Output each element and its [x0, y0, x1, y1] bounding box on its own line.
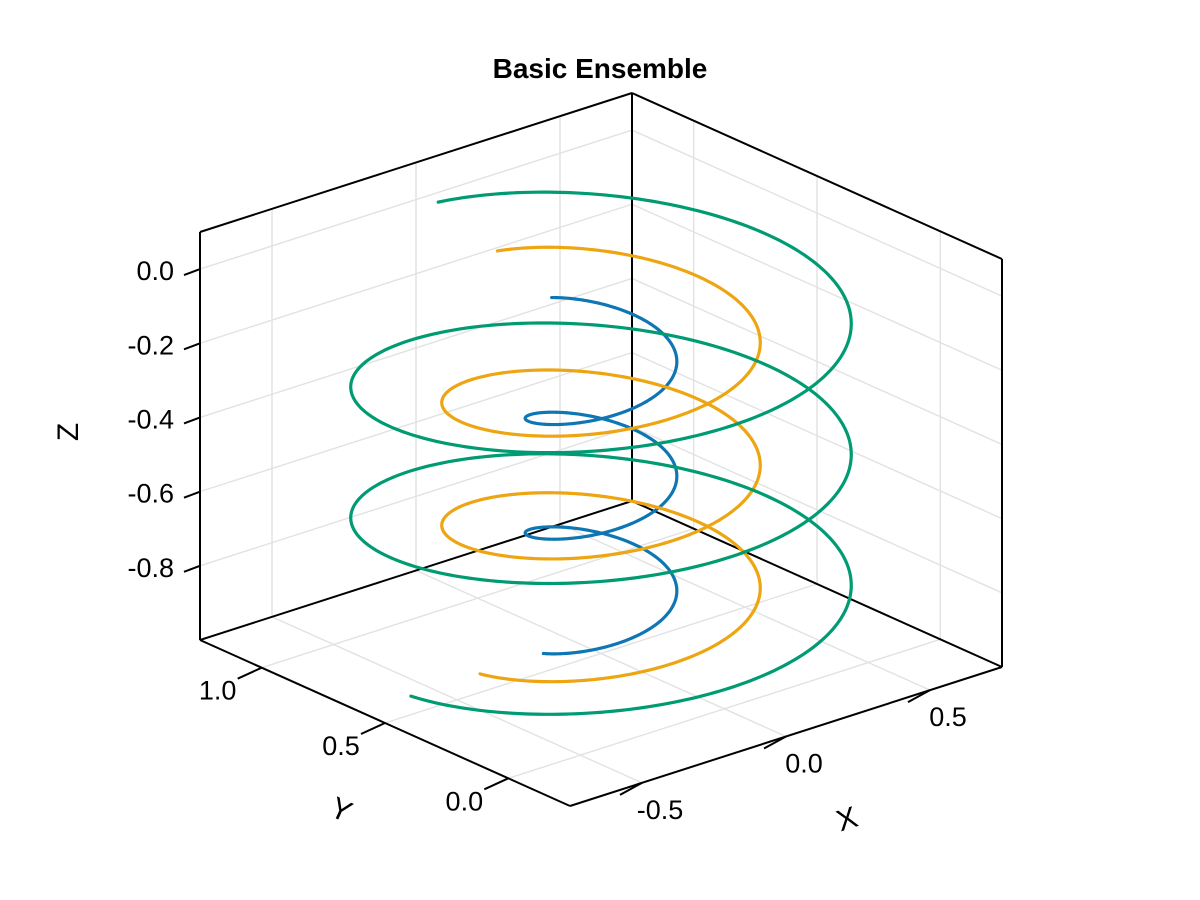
tick-z	[184, 417, 200, 423]
ticklabel-z: -0.2	[127, 330, 174, 360]
tick-z	[184, 343, 200, 349]
ticklabel-z: -0.4	[127, 404, 174, 434]
axis-label-z: Z	[52, 423, 85, 441]
plot-3d-svg: 0.0-0.2-0.4-0.6-0.8Z1.00.50.0Y-0.50.00.5…	[0, 0, 1200, 900]
ticklabel-y: 1.0	[199, 676, 237, 706]
axis-label-x: X	[833, 801, 862, 839]
figure-canvas: 0.0-0.2-0.4-0.6-0.8Z1.00.50.0Y-0.50.00.5…	[0, 0, 1200, 900]
page-title: Basic Ensemble	[493, 53, 708, 84]
tick-y	[238, 668, 262, 679]
ticklabel-y: 0.5	[322, 731, 360, 761]
ticklabel-z: 0.0	[136, 256, 174, 286]
ticklabel-z: -0.8	[127, 553, 174, 583]
ticklabel-x: -0.5	[637, 795, 684, 825]
tick-z	[184, 269, 200, 275]
tick-z	[184, 566, 200, 572]
tick-y	[484, 778, 508, 789]
axis-label-y: Y	[325, 791, 357, 829]
ticklabel-x: 0.5	[929, 702, 967, 732]
tick-y	[361, 723, 385, 734]
tick-z	[184, 492, 200, 498]
ticklabel-z: -0.6	[127, 479, 174, 509]
ticklabel-y: 0.0	[446, 786, 484, 816]
ticklabel-x: 0.0	[785, 749, 823, 779]
